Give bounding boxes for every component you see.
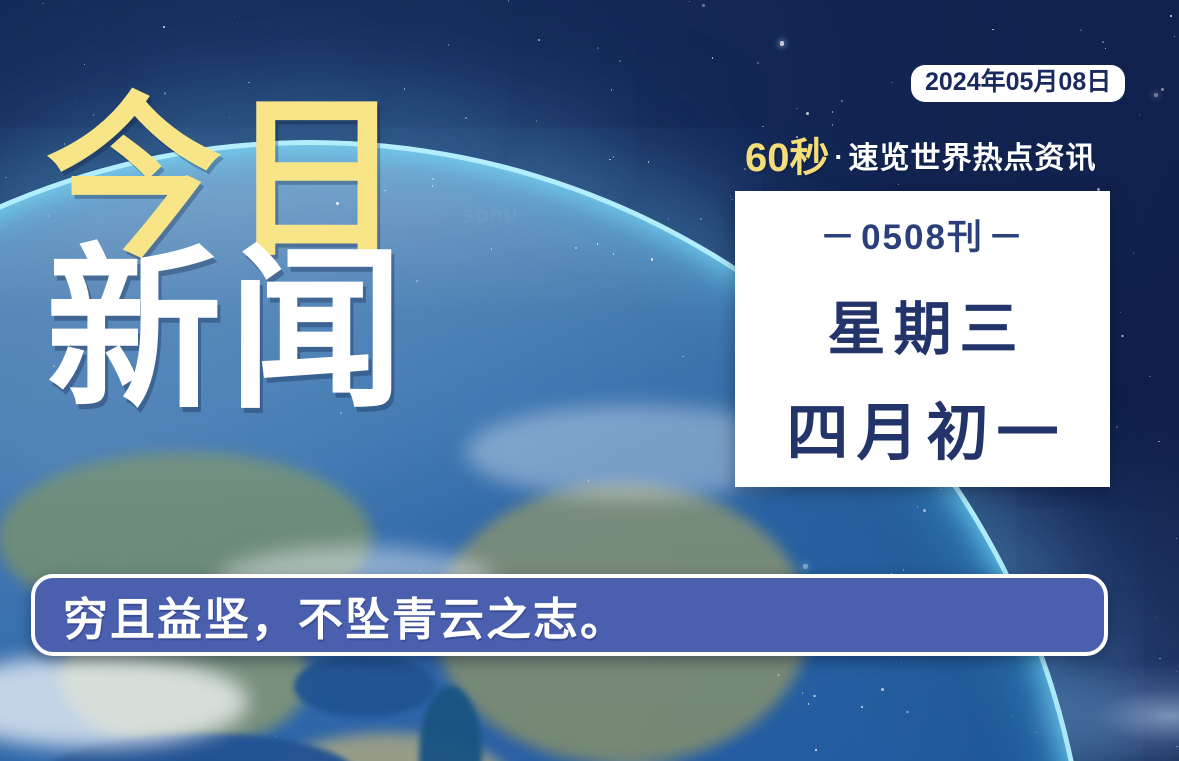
lunar-date-label: 四月初一 (778, 382, 1066, 472)
headline-line-2: 新闻 (46, 249, 410, 414)
issue-line: －0508刊－ (816, 209, 1029, 260)
quote-banner: 穷且益坚，不坠青云之志。 (31, 574, 1108, 656)
issue-number: 0508刊 (861, 218, 984, 257)
issue-dash-left: － (816, 218, 861, 257)
tagline-separator: · (830, 142, 849, 172)
tagline-text: 速览世界热点资讯 (849, 142, 1097, 175)
tagline-duration: 60秒 (745, 136, 830, 180)
issue-info-card: －0508刊－ 星期三 四月初一 (735, 191, 1110, 487)
watermark: sohu (462, 200, 562, 230)
quote-text: 穷且益坚，不坠青云之志。 (35, 583, 627, 648)
page-title: 今日 新闻 (46, 98, 410, 415)
weekday-label: 星期三 (819, 282, 1025, 366)
issue-dash-right: － (984, 218, 1029, 257)
news-poster: sohu 2024年05月08日 今日 新闻 60秒·速览世界热点资讯 －050… (0, 0, 1179, 761)
tagline: 60秒·速览世界热点资讯 (745, 138, 1097, 178)
date-badge: 2024年05月08日 (911, 65, 1125, 102)
